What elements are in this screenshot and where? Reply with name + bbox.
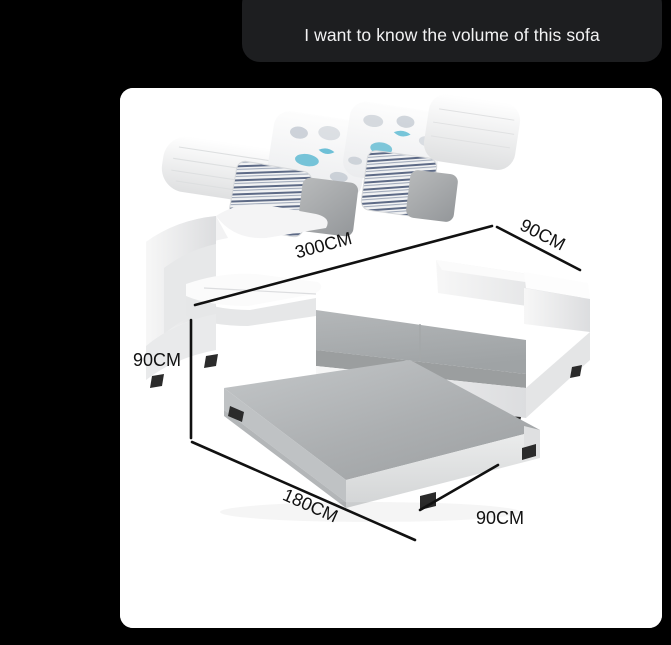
sofa-dimension-illustration: 300CM 90CM 90CM 180CM 90CM [120,88,662,628]
dimension-label-depth-chaise: 90CM [476,508,524,528]
attached-image-card[interactable]: 300CM 90CM 90CM 180CM 90CM [120,88,662,628]
throw-pillow-gray [405,169,458,222]
chat-message-text: I want to know the volume of this sofa [304,24,600,46]
sofa-foot [150,374,164,388]
sofa-foot [204,354,218,368]
dimension-label-height: 90CM [133,350,181,370]
chat-message-bubble: I want to know the volume of this sofa [242,0,662,62]
bolster-cushion-white [421,92,522,173]
